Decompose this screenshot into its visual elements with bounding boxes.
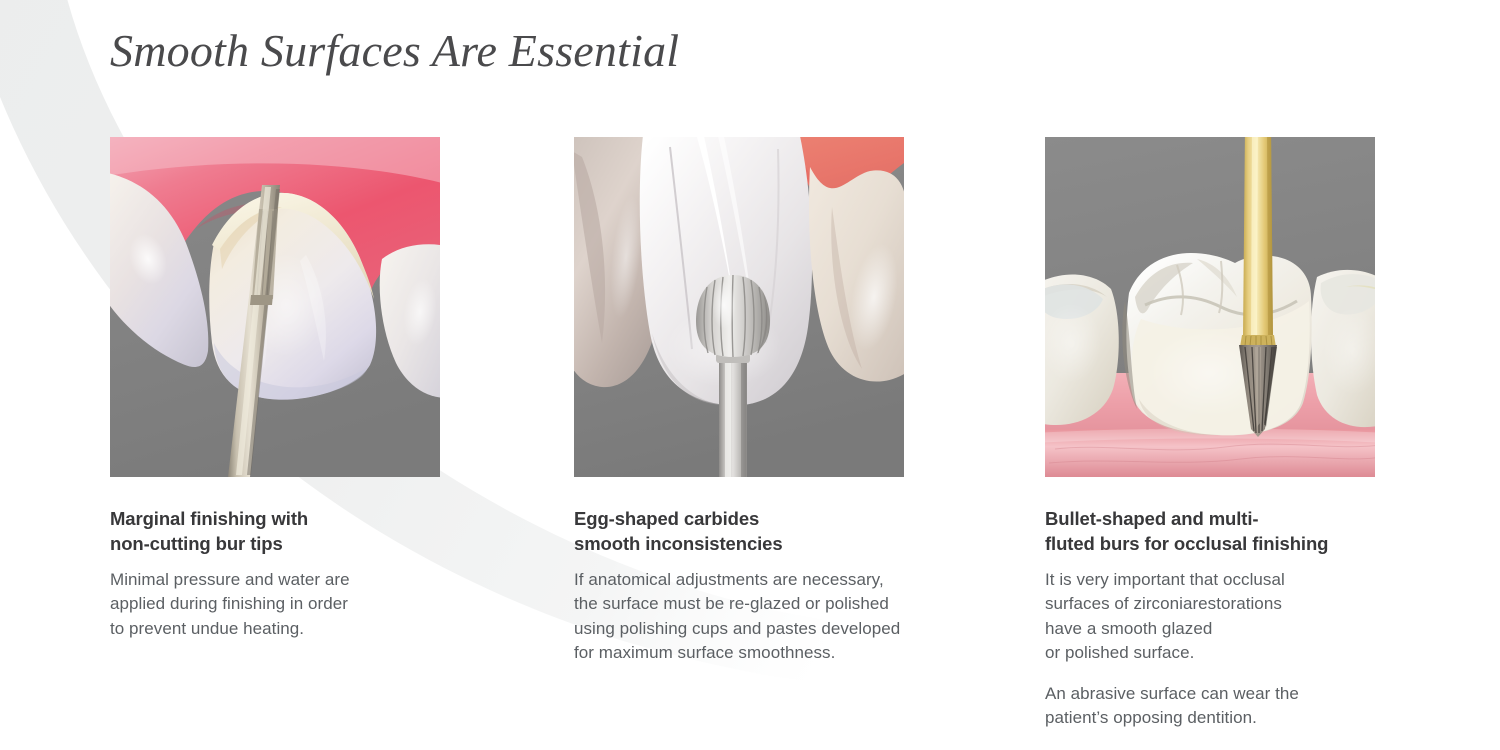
card-heading: Egg-shaped carbides smooth inconsistenci… <box>574 506 1044 556</box>
content-column-bullet-shaped-burs: Bullet-shaped and multi- fluted burs for… <box>1045 137 1425 730</box>
card-paragraph: It is very important that occlusal surfa… <box>1045 568 1425 665</box>
card-paragraph-line: for maximum surface smoothness. <box>574 641 1044 665</box>
card-paragraph-line: An abrasive surface can wear the <box>1045 682 1425 706</box>
card-paragraph-line: have a smooth glazed <box>1045 617 1425 641</box>
card-paragraph-line: surfaces of zirconiarestorations <box>1045 592 1425 616</box>
card-paragraph-line: to prevent undue heating. <box>110 617 450 641</box>
card-paragraph-line: the surface must be re-glazed or polishe… <box>574 592 1044 616</box>
card-heading-line: Egg-shaped carbides <box>574 506 1044 531</box>
card-paragraph: If anatomical adjustments are necessary,… <box>574 568 1044 665</box>
card-paragraph-line: using polishing cups and pastes develope… <box>574 617 1044 641</box>
bullet-shaped-bur-illustration <box>1045 137 1375 477</box>
card-heading-line: fluted burs for occlusal finishing <box>1045 531 1425 556</box>
card-heading-line: Marginal finishing with <box>110 506 450 531</box>
card-paragraph-line: or polished surface. <box>1045 641 1425 665</box>
card-heading: Bullet-shaped and multi- fluted burs for… <box>1045 506 1425 556</box>
card-paragraph-line: Minimal pressure and water are <box>110 568 450 592</box>
card-paragraph: An abrasive surface can wear the patient… <box>1045 682 1425 730</box>
egg-shaped-carbide-illustration <box>574 137 904 477</box>
card-paragraph-line: If anatomical adjustments are necessary, <box>574 568 1044 592</box>
marginal-finishing-illustration <box>110 137 440 477</box>
card-heading-line: Bullet-shaped and multi- <box>1045 506 1425 531</box>
slide-canvas: Smooth Surfaces Are Essential <box>0 0 1500 750</box>
card-paragraph: Minimal pressure and water are applied d… <box>110 568 450 640</box>
card-paragraph-line: applied during finishing in order <box>110 592 450 616</box>
card-heading-line: smooth inconsistencies <box>574 531 1044 556</box>
card-heading: Marginal finishing with non-cutting bur … <box>110 506 450 556</box>
card-paragraph-line: patient’s opposing dentition. <box>1045 706 1425 730</box>
content-column-marginal-finishing: Marginal finishing with non-cutting bur … <box>110 137 450 641</box>
card-paragraph-line: It is very important that occlusal <box>1045 568 1425 592</box>
card-heading-line: non-cutting bur tips <box>110 531 450 556</box>
content-column-egg-shaped-carbides: Egg-shaped carbides smooth inconsistenci… <box>574 137 1044 665</box>
page-title: Smooth Surfaces Are Essential <box>110 28 679 74</box>
